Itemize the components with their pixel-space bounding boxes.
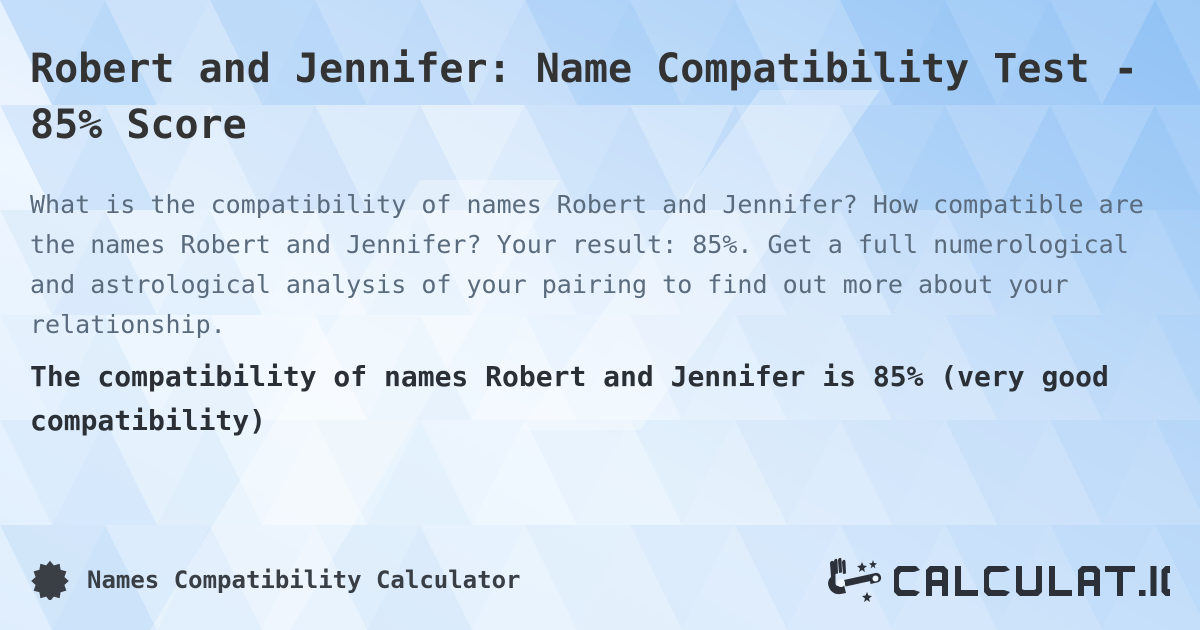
result-statement: The compatibility of names Robert and Je… xyxy=(30,355,1170,443)
card-footer: Names Compatibility Calculator xyxy=(30,552,1170,608)
logo-wordmark xyxy=(890,558,1170,602)
brand-block: Names Compatibility Calculator xyxy=(30,560,520,600)
description-paragraph: What is the compatibility of names Rober… xyxy=(30,185,1170,345)
card-content: Robert and Jennifer: Name Compatibility … xyxy=(0,0,1200,630)
page-title: Robert and Jennifer: Name Compatibility … xyxy=(30,41,1170,153)
site-logo[interactable] xyxy=(826,557,1170,603)
brand-label: Names Compatibility Calculator xyxy=(87,566,520,594)
share-card: Robert and Jennifer: Name Compatibility … xyxy=(0,0,1200,630)
starburst-icon xyxy=(30,560,70,600)
magic-wand-hand-icon xyxy=(826,557,884,603)
